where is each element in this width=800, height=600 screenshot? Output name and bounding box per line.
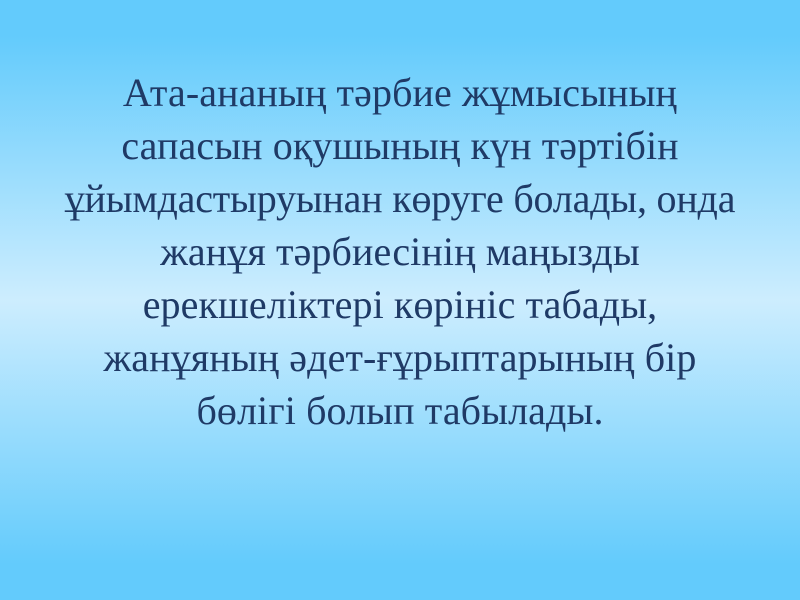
slide-text-line-4: жанұя тәрбиесінің маңызды [0, 225, 800, 278]
slide-canvas: Ата-ананың тәрбие жұмысының сапасын оқуш… [0, 0, 800, 600]
slide-text-line-2: сапасын оқушының күн тәртібін [0, 119, 800, 172]
slide-text-line-1: Ата-ананың тәрбие жұмысының [0, 66, 800, 119]
slide-text-line-6: жанұяның әдет-ғұрыптарының бір [0, 331, 800, 384]
slide-text-line-7: бөлігі болып табылады. [0, 384, 800, 437]
slide-text-line-3: ұйымдастыруынан көруге болады, онда [0, 172, 800, 225]
slide-body-text: Ата-ананың тәрбие жұмысының сапасын оқуш… [0, 66, 800, 437]
slide-text-line-5: ерекшеліктері көрініс табады, [0, 278, 800, 331]
